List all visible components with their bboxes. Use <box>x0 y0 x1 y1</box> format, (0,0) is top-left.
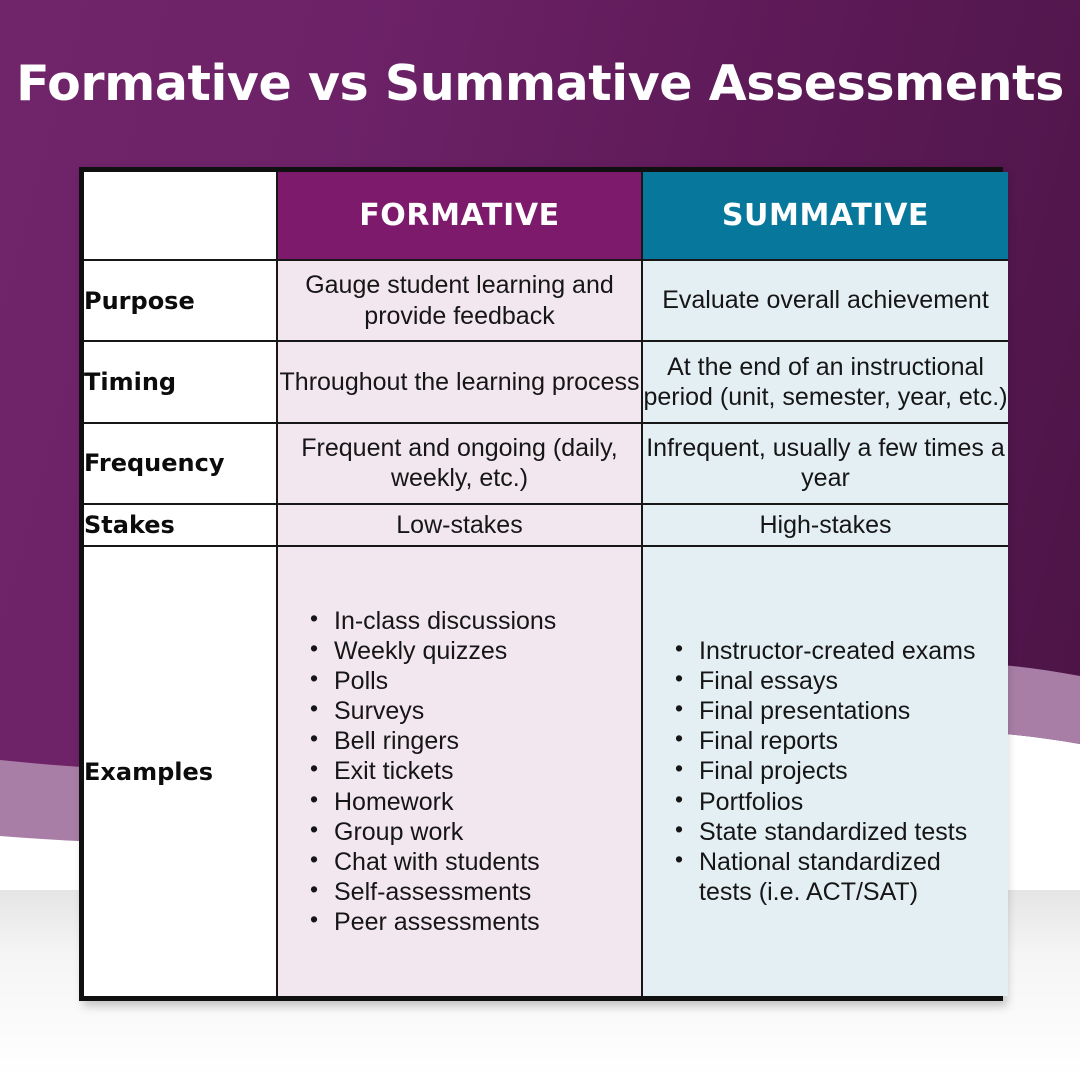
list-item: Portfolios <box>695 787 998 817</box>
list-item: In-class discussions <box>330 606 631 636</box>
list-item: Surveys <box>330 696 631 726</box>
cell-formative-timing: Throughout the learning process <box>277 341 642 422</box>
poster-canvas: Formative vs Summative Assessments FORMA… <box>0 0 1080 1080</box>
list-item: Final projects <box>695 756 998 786</box>
list-item: Final presentations <box>695 696 998 726</box>
list-item: Homework <box>330 787 631 817</box>
list-item: National standardized tests (i.e. ACT/SA… <box>695 847 998 907</box>
list-item: Peer assessments <box>330 907 631 937</box>
list-item: Bell ringers <box>330 726 631 756</box>
cell-summative-examples: Instructor-created examsFinal essaysFina… <box>642 546 1008 996</box>
list-item: Self-assessments <box>330 877 631 907</box>
list-item: Final essays <box>695 666 998 696</box>
header-cell-blank <box>84 172 277 260</box>
row-label-frequency: Frequency <box>84 423 277 504</box>
page-title: Formative vs Summative Assessments <box>0 56 1080 112</box>
header-cell-summative: SUMMATIVE <box>642 172 1008 260</box>
list-item: Group work <box>330 817 631 847</box>
table-row: Purpose Gauge student learning and provi… <box>84 260 1008 341</box>
row-label-examples: Examples <box>84 546 277 996</box>
cell-summative-frequency: Infrequent, usually a few times a year <box>642 423 1008 504</box>
comparison-table-container: FORMATIVE SUMMATIVE Purpose Gauge studen… <box>79 167 1003 1001</box>
table-row: Stakes Low-stakes High-stakes <box>84 504 1008 546</box>
table-row: Examples In-class discussionsWeekly quiz… <box>84 546 1008 996</box>
formative-examples-list: In-class discussionsWeekly quizzesPollsS… <box>304 606 631 937</box>
cell-summative-stakes: High-stakes <box>642 504 1008 546</box>
table-header-row: FORMATIVE SUMMATIVE <box>84 172 1008 260</box>
list-item: Polls <box>330 666 631 696</box>
list-item: State standardized tests <box>695 817 998 847</box>
cell-summative-purpose: Evaluate overall achievement <box>642 260 1008 341</box>
cell-formative-purpose: Gauge student learning and provide feedb… <box>277 260 642 341</box>
list-item: Instructor-created exams <box>695 636 998 666</box>
cell-formative-stakes: Low-stakes <box>277 504 642 546</box>
row-label-timing: Timing <box>84 341 277 422</box>
table-row: Timing Throughout the learning process A… <box>84 341 1008 422</box>
table-row: Frequency Frequent and ongoing (daily, w… <box>84 423 1008 504</box>
list-item: Weekly quizzes <box>330 636 631 666</box>
header-cell-formative: FORMATIVE <box>277 172 642 260</box>
cell-formative-frequency: Frequent and ongoing (daily, weekly, etc… <box>277 423 642 504</box>
cell-formative-examples: In-class discussionsWeekly quizzesPollsS… <box>277 546 642 996</box>
cell-summative-timing: At the end of an instructional period (u… <box>642 341 1008 422</box>
summative-examples-list: Instructor-created examsFinal essaysFina… <box>669 636 998 907</box>
comparison-table: FORMATIVE SUMMATIVE Purpose Gauge studen… <box>84 172 1008 996</box>
row-label-stakes: Stakes <box>84 504 277 546</box>
list-item: Final reports <box>695 726 998 756</box>
row-label-purpose: Purpose <box>84 260 277 341</box>
list-item: Exit tickets <box>330 756 631 786</box>
list-item: Chat with students <box>330 847 631 877</box>
